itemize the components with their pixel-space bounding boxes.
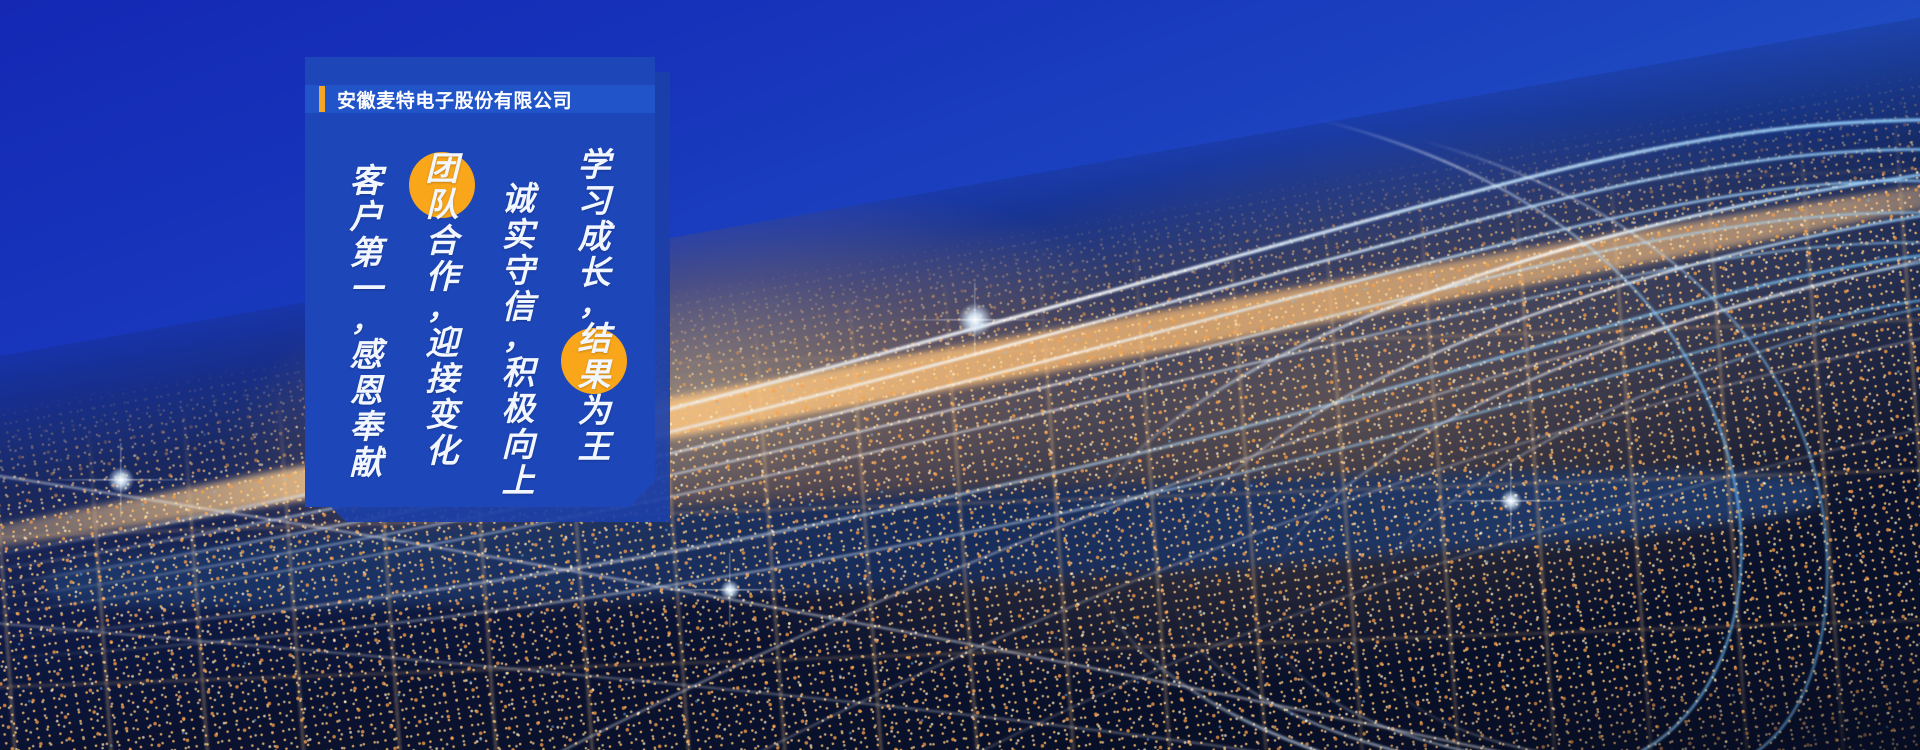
value-char: 化 <box>426 433 459 469</box>
value-char: 实 <box>502 217 535 253</box>
value-char: 队 <box>426 187 459 223</box>
value-char: 接 <box>426 361 459 397</box>
value-char: 为 <box>578 393 611 429</box>
title-accent-bar <box>319 86 325 112</box>
value-char: 结 <box>578 321 611 357</box>
value-char: 果 <box>578 357 611 393</box>
value-char: 上 <box>502 463 535 499</box>
value-char: 诚 <box>502 181 535 217</box>
value-column-integrity: 诚实守信，积极向上 <box>483 181 553 499</box>
value-char: ， <box>503 325 533 355</box>
value-char: 感 <box>350 337 383 373</box>
value-char: ， <box>579 291 609 321</box>
value-char: 一 <box>350 271 383 307</box>
value-char: 恩 <box>350 373 383 409</box>
value-char: 学 <box>578 147 611 183</box>
value-char: 迎 <box>426 325 459 361</box>
value-char: 户 <box>350 199 383 235</box>
value-char: 变 <box>426 397 459 433</box>
page-title: 安徽麦特电子股份有限公司 <box>337 86 572 113</box>
values-columns: 学习成长，结果为王诚实守信，积极向上团队合作，迎接变化客户第一，感恩奉献 <box>305 113 655 507</box>
value-char: 团 <box>426 151 459 187</box>
value-column-customer: 客户第一，感恩奉献 <box>331 163 401 481</box>
value-char: 积 <box>502 355 535 391</box>
value-column-learning: 学习成长，结果为王 <box>559 147 629 465</box>
value-char: ， <box>427 295 457 325</box>
value-char: 王 <box>578 429 611 465</box>
value-char: 献 <box>350 445 383 481</box>
value-column-teamwork: 团队合作，迎接变化 <box>407 151 477 469</box>
value-char: 信 <box>502 289 535 325</box>
value-char: 守 <box>502 253 535 289</box>
value-char: ， <box>351 307 381 337</box>
panel-titlebar: 安徽麦特电子股份有限公司 <box>305 85 655 113</box>
value-char: 向 <box>502 427 535 463</box>
value-char: 习 <box>578 183 611 219</box>
value-char: 作 <box>426 259 459 295</box>
value-char: 合 <box>426 223 459 259</box>
value-char: 极 <box>502 391 535 427</box>
value-char: 第 <box>350 235 383 271</box>
value-char: 客 <box>350 163 383 199</box>
value-char: 长 <box>578 255 611 291</box>
banner-stage: 安徽麦特电子股份有限公司 学习成长，结果为王诚实守信，积极向上团队合作，迎接变化… <box>0 0 1920 750</box>
value-char: 成 <box>578 219 611 255</box>
company-values-panel: 安徽麦特电子股份有限公司 学习成长，结果为王诚实守信，积极向上团队合作，迎接变化… <box>305 57 655 507</box>
value-char: 奉 <box>350 409 383 445</box>
